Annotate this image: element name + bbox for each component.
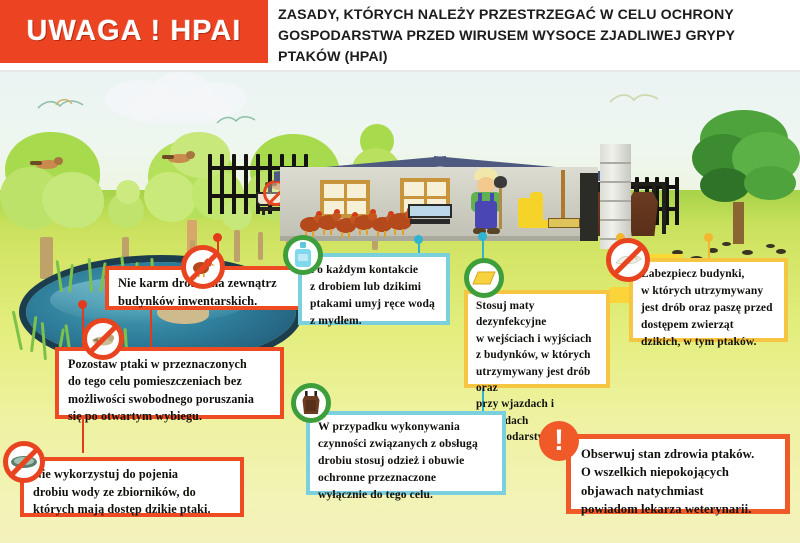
advice-text: Zabezpiecz budynki, w których utrzymywan…	[641, 266, 776, 350]
barn-window	[320, 180, 370, 218]
indoor-feeder	[408, 204, 452, 226]
broom-handle	[561, 170, 565, 220]
soap-bottle-glyph	[295, 242, 311, 268]
advice-text: W przypadku wykonywania czynności związa…	[318, 419, 494, 504]
broom-head	[548, 218, 580, 228]
title-banner: UWAGA ! HPAI	[0, 0, 268, 63]
advice-text: Po każdym kontakcie z drobiem lub dzikim…	[310, 261, 438, 330]
no-free-range-icon	[82, 318, 124, 360]
connector-keep-birds-indoors	[148, 305, 154, 349]
no-wild-bird-icon	[606, 238, 650, 282]
protective-coverall	[628, 192, 658, 236]
hpai-poster: UWAGA ! HPAI ZASADY, KTÓRYCH NALEŻY PRZE…	[0, 0, 800, 543]
advice-box-secure-buildings: Zabezpiecz budynki, w których utrzymywan…	[629, 258, 788, 342]
mat-glyph	[472, 270, 496, 286]
tree-trunk	[234, 230, 240, 262]
protective-coverall-icon	[291, 383, 331, 423]
advice-box-monitor-health: Obserwuj stan zdrowia ptaków. O wszelkic…	[566, 434, 790, 514]
barn-doorway	[580, 173, 598, 241]
no-chicken-feeding-icon	[181, 245, 225, 289]
header-divider	[0, 70, 800, 72]
flying-bird-icon	[608, 90, 660, 108]
barn-building	[280, 140, 598, 240]
advice-text: Obserwuj stan zdrowia ptaków. O wszelkic…	[581, 445, 775, 518]
flying-bird-icon	[36, 96, 86, 114]
bush-icon	[116, 180, 140, 204]
feeder-legs	[410, 219, 450, 224]
no-pond-water-icon	[3, 441, 45, 483]
barn-floor	[280, 236, 598, 241]
advice-box-keep-birds-indoors: Pozostaw ptaki w przeznaczonych do tego …	[55, 347, 284, 419]
tree-foliage	[144, 172, 196, 222]
exclamation-alert-icon: !	[539, 421, 579, 461]
flying-bird-icon	[215, 112, 257, 128]
poster-subtitle: ZASADY, KTÓRYCH NALEŻY PRZESTRZEGAĆ W CE…	[278, 5, 790, 68]
tree-foliage	[744, 166, 796, 200]
tree-foliage	[42, 172, 104, 228]
disinfection-mat-icon	[464, 258, 504, 298]
advice-text: Nie wykorzystuj do pojenia drobiu wody z…	[33, 466, 231, 519]
connector-dot	[414, 235, 423, 244]
connector-dot	[704, 233, 713, 242]
exclamation-glyph: !	[554, 426, 564, 456]
farmer-overalls	[475, 201, 497, 229]
connector-dot	[478, 232, 487, 241]
feeder-trough	[408, 204, 452, 218]
tree-trunk	[733, 202, 744, 244]
soap-bottle-icon	[283, 235, 323, 275]
tree-foliage	[700, 168, 750, 202]
rack-leg	[662, 182, 666, 234]
connector-dot	[213, 233, 222, 242]
advice-box-no-wild-water: Nie wykorzystuj do pojenia drobiu wody z…	[20, 457, 244, 517]
advice-box-disinfection-mats: Stosuj maty dezynfekcyjne w wejściach i …	[464, 290, 610, 388]
silo	[600, 144, 631, 249]
tree-trunk	[40, 237, 53, 279]
shovel-handle	[499, 184, 502, 229]
poster-title: UWAGA ! HPAI	[27, 15, 242, 48]
poster-header: UWAGA ! HPAI ZASADY, KTÓRYCH NALEŻY PRZE…	[0, 0, 800, 72]
advice-box-protective-clothing: W przypadku wykonywania czynności związa…	[306, 411, 506, 495]
advice-text: Pozostaw ptaki w przeznaczonych do tego …	[68, 356, 271, 425]
shovel-head	[494, 176, 507, 188]
coverall-glyph	[301, 391, 321, 415]
connector-dot	[78, 300, 87, 309]
tree-trunk	[258, 232, 263, 260]
barn-roof	[274, 140, 604, 170]
